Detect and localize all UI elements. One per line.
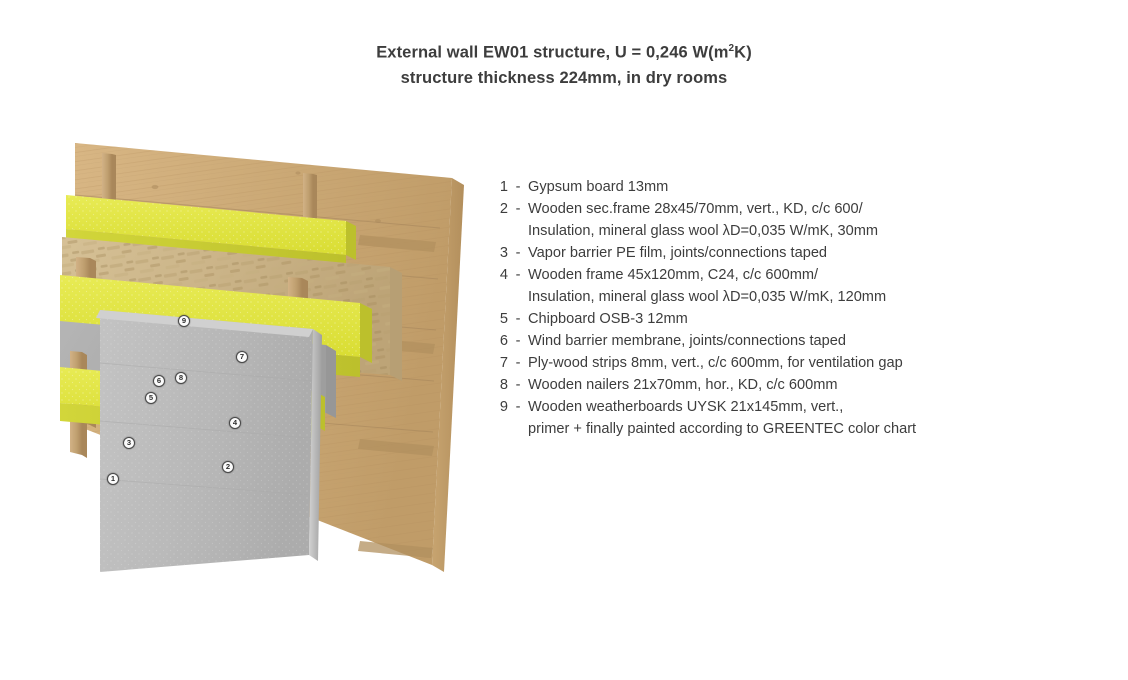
callout-marker-6[interactable]: 6: [153, 375, 165, 387]
legend-text-1: Gypsum board 13mm: [528, 176, 1014, 198]
legend-list: 1 - Gypsum board 13mm 2 - Wooden sec.fra…: [494, 176, 1014, 440]
callout-marker-4[interactable]: 4: [229, 417, 241, 429]
legend-item-8: 8 - Wooden nailers 21x70mm, hor., KD, c/…: [494, 374, 1014, 396]
legend-text-4-continued: Insulation, mineral glass wool λD=0,035 …: [494, 286, 1014, 308]
legend-item-7: 7 - Ply-wood strips 8mm, vert., c/c 600m…: [494, 352, 1014, 374]
legend-4-cont-pre: Insulation, mineral glass wool λ: [528, 289, 730, 305]
legend-number-1: 1: [494, 176, 508, 198]
legend-item-2: 2 - Wooden sec.frame 28x45/70mm, vert., …: [494, 198, 1014, 220]
legend-4-cont-post: =0,035 W/mK, 120mm: [741, 289, 887, 305]
legend-text-3: Vapor barrier PE film, joints/connection…: [528, 242, 1014, 264]
legend-separator-4: -: [508, 264, 528, 286]
layer-gypsum-board: [62, 305, 322, 577]
legend-text-2: Wooden sec.frame 28x45/70mm, vert., KD, …: [528, 198, 1014, 220]
legend-separator-2: -: [508, 198, 528, 220]
legend-text-7: Ply-wood strips 8mm, vert., c/c 600mm, f…: [528, 352, 1014, 374]
callout-marker-7[interactable]: 7: [236, 351, 248, 363]
title-line-1-post: K): [734, 44, 752, 62]
legend-item-5: 5 - Chipboard OSB-3 12mm: [494, 308, 1014, 330]
legend-number-5: 5: [494, 308, 508, 330]
callout-marker-9[interactable]: 9: [178, 315, 190, 327]
callout-marker-8[interactable]: 8: [175, 372, 187, 384]
wall-assembly-diagram: 9 7 8 6 5 4 3 2 1: [60, 125, 480, 595]
legend-separator-6: -: [508, 330, 528, 352]
legend-text-8: Wooden nailers 21x70mm, hor., KD, c/c 60…: [528, 374, 1014, 396]
title-line-1: External wall EW01 structure, U = 0,246 …: [0, 36, 1128, 66]
legend-2-cont-post: =0,035 W/mK, 30mm: [741, 223, 878, 239]
legend-number-4: 4: [494, 264, 508, 286]
wall-structure-figure: External wall EW01 structure, U = 0,246 …: [0, 0, 1128, 680]
legend-item-9: 9 - Wooden weatherboards UYSK 21x145mm, …: [494, 396, 1014, 418]
legend-number-3: 3: [494, 242, 508, 264]
legend-text-6: Wind barrier membrane, joints/connection…: [528, 330, 1014, 352]
legend-item-4: 4 - Wooden frame 45x120mm, C24, c/c 600m…: [494, 264, 1014, 286]
legend-separator-7: -: [508, 352, 528, 374]
legend-separator-1: -: [508, 176, 528, 198]
legend-item-1: 1 - Gypsum board 13mm: [494, 176, 1014, 198]
legend-number-7: 7: [494, 352, 508, 374]
legend-item-6: 6 - Wind barrier membrane, joints/connec…: [494, 330, 1014, 352]
title-line-2: structure thickness 224mm, in dry rooms: [0, 66, 1128, 91]
legend-separator-3: -: [508, 242, 528, 264]
legend-text-9-continued: primer + finally painted according to GR…: [494, 418, 1014, 440]
legend-text-4: Wooden frame 45x120mm, C24, c/c 600mm/: [528, 264, 1014, 286]
legend-2-cont-pre: Insulation, mineral glass wool λ: [528, 223, 730, 239]
legend-number-9: 9: [494, 396, 508, 418]
legend-number-2: 2: [494, 198, 508, 220]
figure-title: External wall EW01 structure, U = 0,246 …: [0, 36, 1128, 91]
callout-marker-5[interactable]: 5: [145, 392, 157, 404]
legend-separator-5: -: [508, 308, 528, 330]
legend-text-2-continued: Insulation, mineral glass wool λD=0,035 …: [494, 220, 1014, 242]
legend-number-6: 6: [494, 330, 508, 352]
title-line-1-pre: External wall EW01 structure, U = 0,246 …: [376, 44, 728, 62]
legend-separator-8: -: [508, 374, 528, 396]
legend-text-5: Chipboard OSB-3 12mm: [528, 308, 1014, 330]
legend-separator-9: -: [508, 396, 528, 418]
legend-2-cont-sub: D: [730, 223, 741, 239]
legend-text-9: Wooden weatherboards UYSK 21x145mm, vert…: [528, 396, 1014, 418]
legend-number-8: 8: [494, 374, 508, 396]
legend-4-cont-sub: D: [730, 289, 741, 305]
legend-item-3: 3 - Vapor barrier PE film, joints/connec…: [494, 242, 1014, 264]
callout-marker-3[interactable]: 3: [123, 437, 135, 449]
callout-marker-1[interactable]: 1: [107, 473, 119, 485]
callout-marker-2[interactable]: 2: [222, 461, 234, 473]
